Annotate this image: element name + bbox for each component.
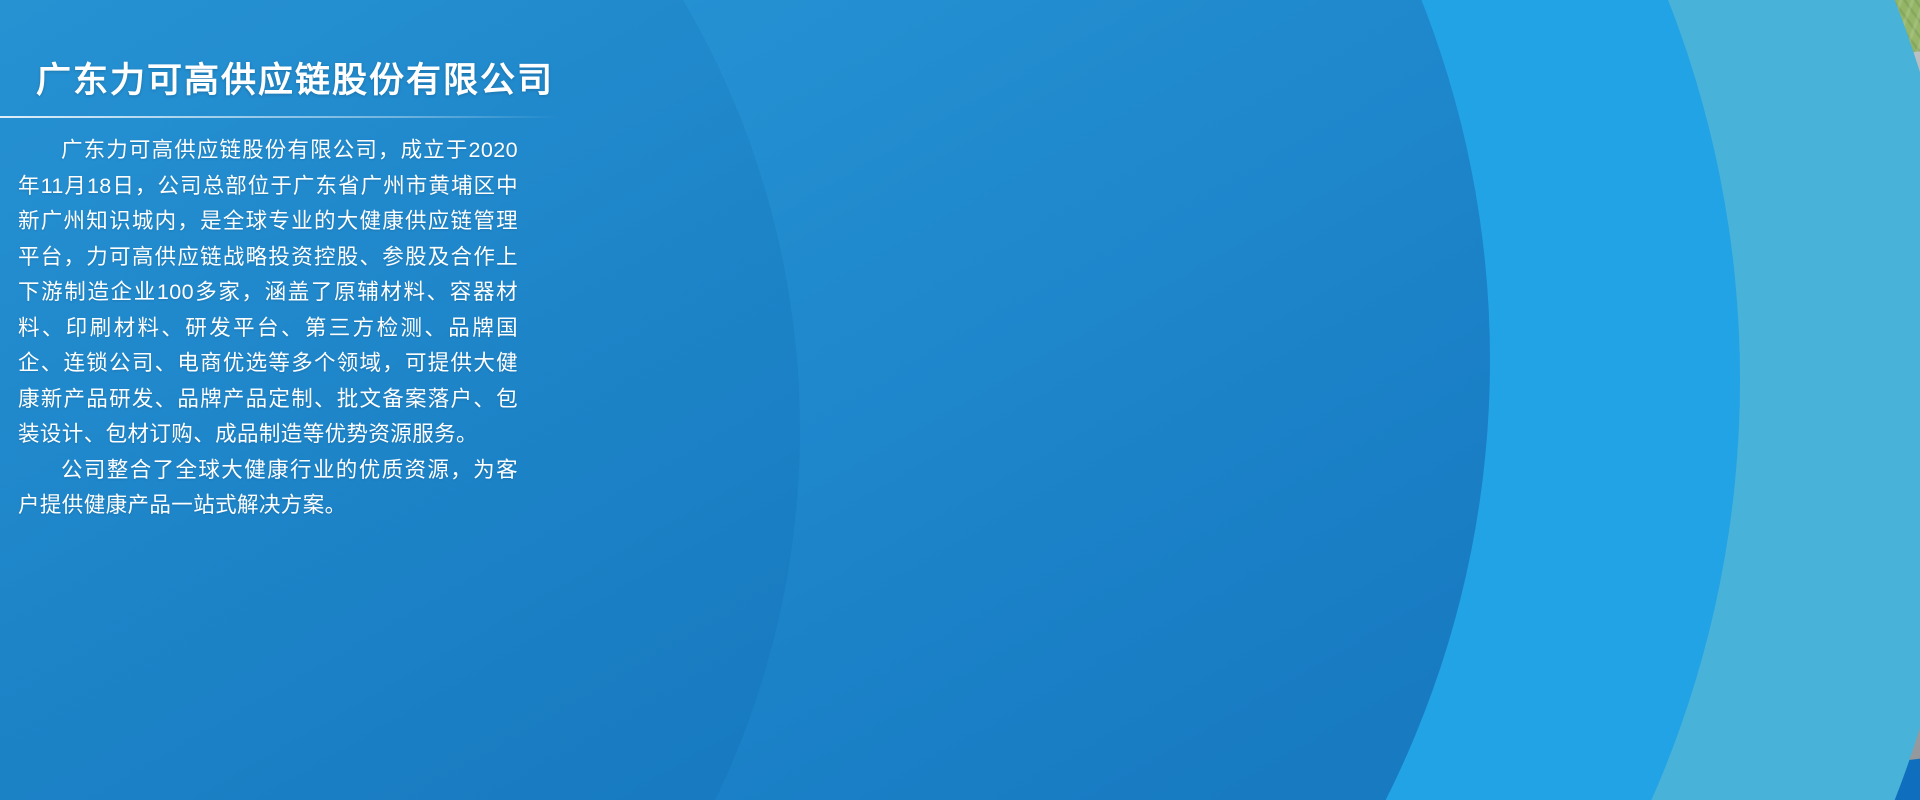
company-title: 广东力可高供应链股份有限公司	[36, 52, 554, 103]
title-divider	[0, 116, 560, 118]
description-paragraph-1: 广东力可高供应链股份有限公司，成立于2020年11月18日，公司总部位于广东省广…	[18, 133, 518, 453]
banner-stage: 黄埔制药产业园	[0, 0, 1920, 800]
description-paragraph-2: 公司整合了全球大健康行业的优质资源，为客户提供健康产品一站式解决方案。	[18, 453, 518, 524]
company-description: 广东力可高供应链股份有限公司，成立于2020年11月18日，公司总部位于广东省广…	[18, 133, 518, 524]
intro-content: 广东力可高供应链股份有限公司 广东力可高供应链股份有限公司，成立于2020年11…	[0, 0, 560, 800]
